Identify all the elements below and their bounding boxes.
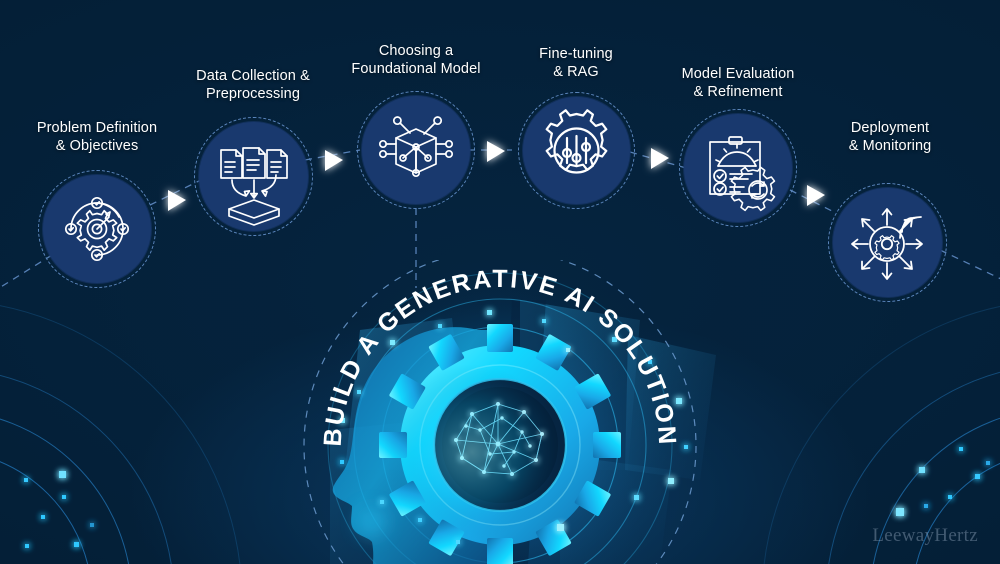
arrow-right-triangle-icon	[487, 141, 505, 162]
step-label-4: Fine-tuning & RAG	[490, 46, 662, 82]
clipboard-checklist-gears-icon	[684, 114, 792, 222]
step-label-2: Data Collection & Preprocessing	[167, 68, 339, 104]
step-label-3: Choosing a Foundational Model	[330, 43, 502, 79]
arrow-right-triangle-icon	[651, 148, 669, 169]
arrow-right-triangle-icon	[168, 190, 186, 211]
cube-neural-network-icon	[362, 96, 470, 204]
watermark: LeewayHertz	[872, 525, 978, 547]
documents-into-database-icon	[199, 122, 308, 231]
step-node-6[interactable]	[833, 188, 942, 297]
step-label-1: Problem Definition & Objectives	[11, 120, 183, 156]
step-node-5[interactable]	[684, 114, 792, 222]
arrow-right-triangle-icon	[325, 150, 343, 171]
gear-arrows-signal-icon	[833, 188, 942, 297]
target-gear-objectives-icon	[43, 175, 151, 283]
step-node-4[interactable]	[523, 97, 630, 204]
gear-sliders-icon	[523, 97, 630, 204]
step-label-6: Deployment & Monitoring	[802, 120, 978, 156]
step-node-2[interactable]	[199, 122, 308, 231]
step-label-5: Model Evaluation & Refinement	[650, 66, 826, 102]
infographic-canvas: BUILD A GENERATIVE AI SOLUTION	[0, 0, 1000, 564]
step-node-1[interactable]	[43, 175, 151, 283]
step-node-3[interactable]	[362, 96, 470, 204]
